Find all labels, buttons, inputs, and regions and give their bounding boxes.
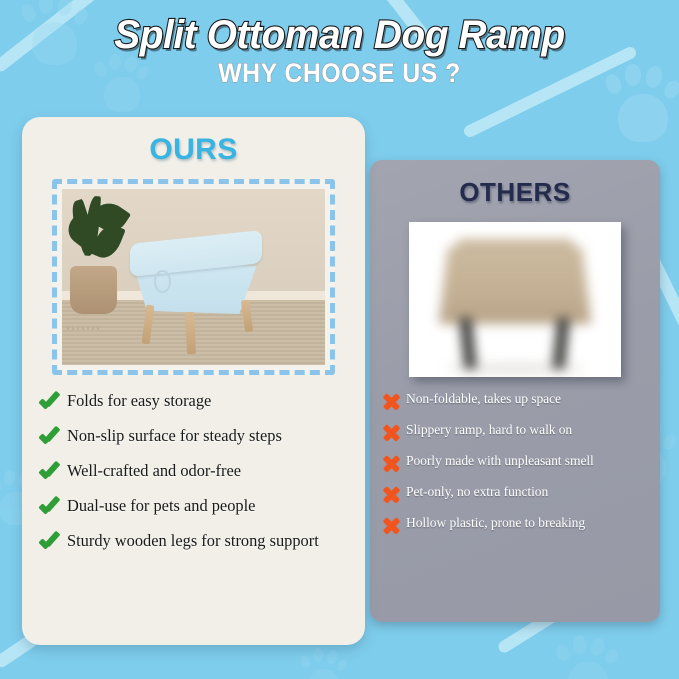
list-item: Dual-use for pets and people [38, 496, 351, 518]
check-icon [38, 428, 62, 448]
ottoman-leg-right [553, 318, 570, 369]
list-item: Non-slip surface for steady steps [38, 426, 351, 448]
list-item-label: Folds for easy storage [67, 391, 211, 411]
list-item: Slippery ramp, hard to walk on [382, 422, 644, 442]
cross-icon [382, 516, 401, 535]
list-item-label: Dual-use for pets and people [67, 496, 255, 516]
list-item-label: Non-foldable, takes up space [406, 391, 561, 408]
cross-icon [382, 392, 401, 411]
list-item: Pet-only, no extra function [382, 484, 644, 504]
ottoman-body-shape [439, 247, 592, 325]
ours-heading: OURS [22, 133, 365, 167]
list-item: Sturdy wooden legs for strong support [38, 531, 351, 553]
rug-fringe [67, 326, 99, 330]
list-item-label: Pet-only, no extra function [406, 484, 548, 501]
cross-icon [382, 423, 401, 442]
list-item: Non-foldable, takes up space [382, 391, 644, 411]
page-subtitle: WHY CHOOSE US ? [27, 59, 652, 87]
list-item: Well-crafted and odor-free [38, 461, 351, 483]
paw-print-icon [300, 648, 350, 679]
list-item-label: Well-crafted and odor-free [67, 461, 241, 481]
ours-photo-frame [52, 179, 335, 375]
list-item-label: Sturdy wooden legs for strong support [67, 531, 319, 551]
list-item-label: Hollow plastic, prone to breaking [406, 515, 585, 532]
paw-print-icon [556, 636, 620, 679]
check-icon [38, 498, 62, 518]
cross-icon [382, 485, 401, 504]
list-item: Poorly made with unpleasant smell [382, 453, 644, 473]
header: Split Ottoman Dog Ramp WHY CHOOSE US ? [0, 0, 679, 87]
check-icon [38, 533, 62, 553]
check-icon [38, 463, 62, 483]
page-title: Split Ottoman Dog Ramp [10, 14, 669, 56]
wooden-leg [185, 312, 196, 355]
ours-feature-list: Folds for easy storage Non-slip surface … [38, 391, 351, 553]
ours-panel: OURS [22, 117, 365, 645]
ours-product-image [62, 189, 325, 365]
ottoman-shadow [447, 365, 583, 373]
list-item-label: Poorly made with unpleasant smell [406, 453, 594, 470]
others-product-image [409, 222, 621, 377]
list-item-label: Slippery ramp, hard to walk on [406, 422, 572, 439]
others-panel: OTHERS Non-foldable, takes up space Slip… [370, 160, 660, 622]
list-item: Folds for easy storage [38, 391, 351, 413]
others-heading: OTHERS [370, 177, 660, 208]
ottoman-leg-left [459, 318, 476, 369]
list-item: Hollow plastic, prone to breaking [382, 515, 644, 535]
check-icon [38, 393, 62, 413]
plant-pot [70, 266, 117, 314]
others-feature-list: Non-foldable, takes up space Slippery ra… [382, 391, 644, 535]
infographic-canvas: Split Ottoman Dog Ramp WHY CHOOSE US ? O… [0, 0, 679, 679]
list-item-label: Non-slip surface for steady steps [67, 426, 282, 446]
cross-icon [382, 454, 401, 473]
